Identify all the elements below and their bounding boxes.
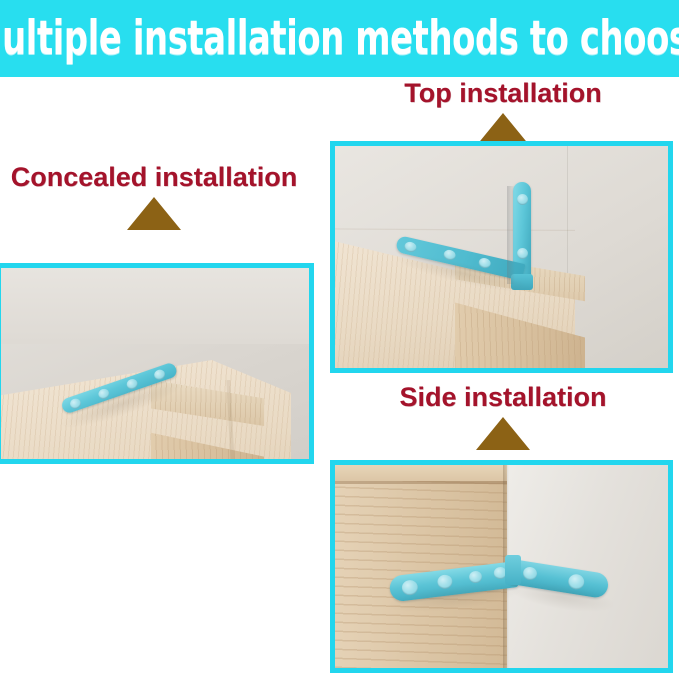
infographic-page: Multiple installation methods to choose … xyxy=(0,0,679,679)
cabinet-top-cap-line xyxy=(335,481,507,484)
photo-panel-top-installation xyxy=(330,141,673,373)
label-concealed-text: Concealed installation xyxy=(4,162,304,192)
triangle-up-icon xyxy=(127,197,181,230)
scene-top xyxy=(335,146,668,368)
strap-screw-hole xyxy=(517,248,528,259)
label-top-text: Top installation xyxy=(358,78,648,108)
label-side-installation: Side installation xyxy=(358,382,648,450)
cabinet-top-cap xyxy=(335,465,507,481)
label-top-installation: Top installation xyxy=(358,78,648,146)
page-title: Multiple installation methods to choose xyxy=(0,15,679,62)
strap-screw-hole xyxy=(517,194,528,205)
triangle-up-icon xyxy=(476,417,530,450)
title-banner: Multiple installation methods to choose xyxy=(0,0,679,77)
scene-side xyxy=(335,465,668,668)
photo-panel-side-installation xyxy=(330,460,673,673)
photo-panel-concealed-installation xyxy=(0,263,314,464)
label-side-text: Side installation xyxy=(358,382,648,412)
label-concealed-installation: Concealed installation xyxy=(4,162,304,230)
wall-upper-band xyxy=(1,268,309,344)
scene-concealed xyxy=(1,268,309,459)
strap-wall-shadow xyxy=(507,186,515,284)
